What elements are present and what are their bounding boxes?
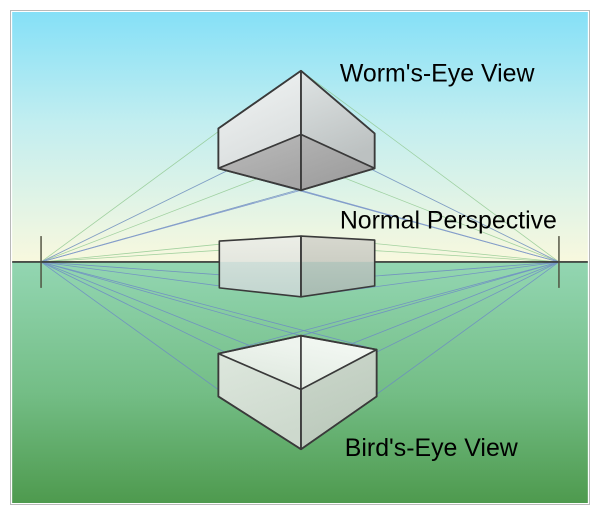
perspective-diagram-frame: Worm's-Eye View Normal Perspective Bird'…: [0, 0, 600, 515]
label-worms-eye-view: Worm's-Eye View: [340, 59, 536, 87]
normal-perspective-face-right: [301, 236, 375, 297]
label-birds-eye-view: Bird's-Eye View: [345, 434, 519, 462]
perspective-diagram-canvas: Worm's-Eye View Normal Perspective Bird'…: [10, 10, 590, 505]
normal-perspective-box[interactable]: [219, 236, 374, 297]
normal-perspective-face-left: [219, 236, 301, 297]
label-normal-perspective: Normal Perspective: [340, 207, 557, 235]
